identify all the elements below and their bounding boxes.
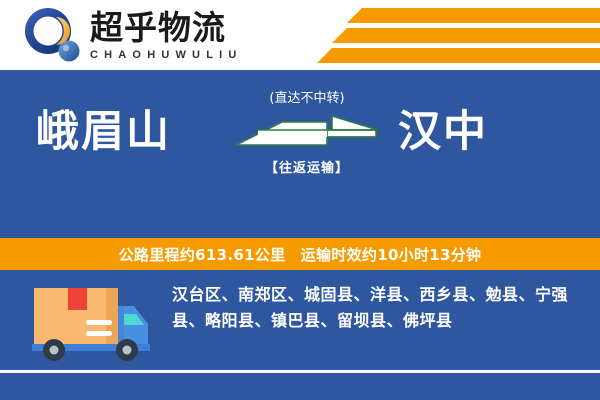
route-row: 峨眉山 (直达不中转) 【往返运 <box>0 70 600 230</box>
route-info-bar: 公路里程约613.61公里 运输时效约10小时13分钟 <box>0 238 600 270</box>
route-arrow-block: (直达不中转) 【往返运输】 <box>232 86 382 214</box>
origin-city: 峨眉山 <box>36 104 171 160</box>
direct-service-note: (直达不中转) <box>232 90 382 108</box>
distance-and-duration-text: 公路里程约613.61公里 运输时效约10小时13分钟 <box>119 244 482 265</box>
logistics-route-banner: 超乎物流 CHAOHUWULIU 峨眉山 (直达不中转) <box>0 0 600 400</box>
round-trip-note: 【往返运输】 <box>232 160 382 178</box>
double-headed-arrow-icon <box>232 114 382 154</box>
bottom-strip <box>0 373 600 400</box>
brand-name-en: CHAOHUWULIU <box>90 48 243 62</box>
destination-city: 汉中 <box>398 104 488 160</box>
coverage-districts-text: 汉台区、南郑区、城固县、洋县、西乡县、勉县、宁强县、略阳县、镇巴县、留坝县、佛坪… <box>172 282 576 334</box>
delivery-truck-icon <box>24 276 164 366</box>
brand-logo: 超乎物流 CHAOHUWULIU <box>22 6 243 64</box>
brand-text: 超乎物流 CHAOHUWULIU <box>90 9 243 62</box>
coverage-area: 汉台区、南郑区、城固县、洋县、西乡县、勉县、宁强县、略阳县、镇巴县、留坝县、佛坪… <box>0 270 600 370</box>
header: 超乎物流 CHAOHUWULIU <box>0 0 600 70</box>
orange-slanted-stripes-icon <box>300 8 600 64</box>
brand-name-cn: 超乎物流 <box>90 9 243 47</box>
circle-crescent-logo-icon <box>22 6 84 64</box>
body-panel: 峨眉山 (直达不中转) 【往返运 <box>0 70 600 400</box>
